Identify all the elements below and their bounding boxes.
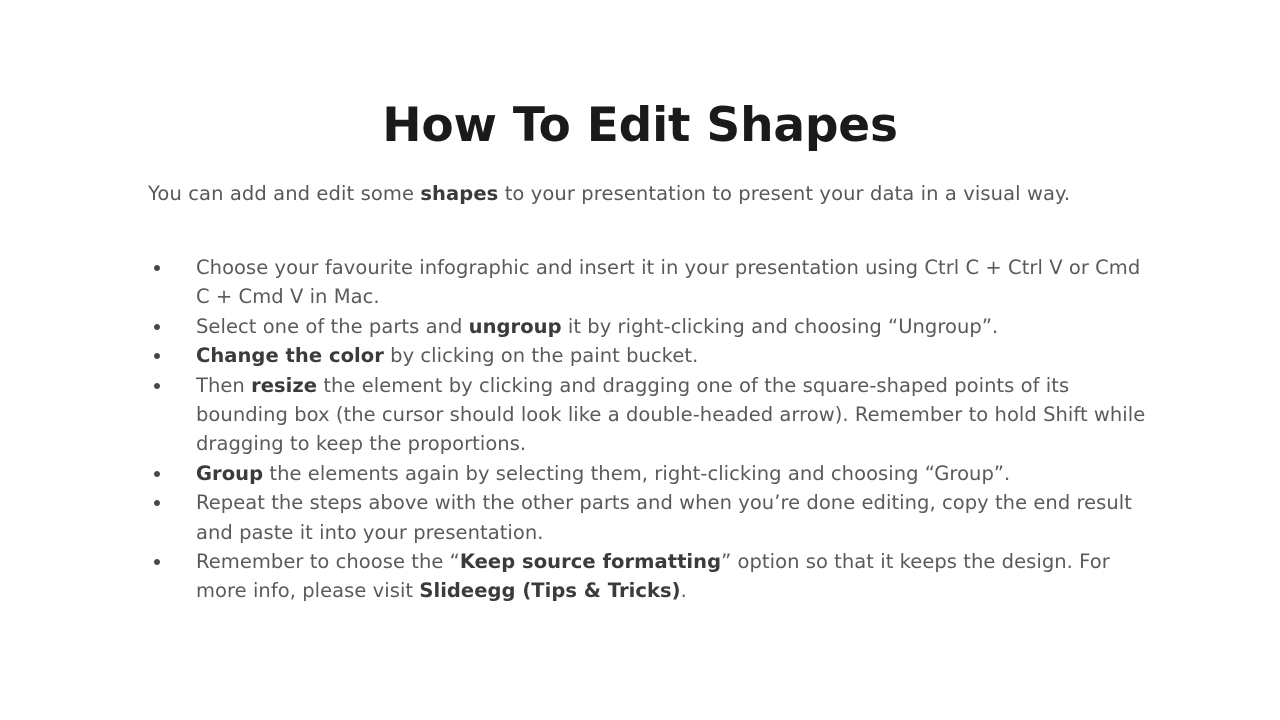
list-item-emphasis: Slideegg (Tips & Tricks) xyxy=(419,579,680,602)
list-item-emphasis: Keep source formatting xyxy=(460,550,721,573)
list-item: Then resize the element by clicking and … xyxy=(148,371,1158,459)
list-item: Choose your favourite infographic and in… xyxy=(148,253,1158,312)
list-item: Change the color by clicking on the pain… xyxy=(148,341,1158,370)
list-item-text: Select one of the parts and xyxy=(196,315,469,338)
bullet-dot-icon xyxy=(154,559,160,565)
list-item-text: Then xyxy=(196,374,251,397)
bullet-group: Group the elements again by selecting th… xyxy=(196,462,1010,485)
list-item-emphasis: resize xyxy=(251,374,317,397)
bullet-dot-icon xyxy=(154,471,160,477)
bullet-dot-icon xyxy=(154,500,160,506)
list-item: Group the elements again by selecting th… xyxy=(148,459,1158,488)
list-item-emphasis: ungroup xyxy=(469,315,562,338)
list-item-text: the elements again by selecting them, ri… xyxy=(263,462,1010,485)
subtitle-text-before: You can add and edit some xyxy=(148,182,420,205)
bullet-dot-icon xyxy=(154,383,160,389)
bullet-change-color: Change the color by clicking on the pain… xyxy=(196,344,698,367)
bullet-ungroup: Select one of the parts and ungroup it b… xyxy=(196,315,998,338)
bullet-resize: Then resize the element by clicking and … xyxy=(196,374,1145,456)
list-item-emphasis: Change the color xyxy=(196,344,384,367)
bullet-repeat: Repeat the steps above with the other pa… xyxy=(196,491,1132,543)
list-item: Repeat the steps above with the other pa… xyxy=(148,488,1158,547)
list-item-text: the element by clicking and dragging one… xyxy=(196,374,1145,456)
slide-canvas: How To Edit Shapes You can add and edit … xyxy=(0,0,1280,720)
list-item-text: it by right-clicking and choosing “Ungro… xyxy=(562,315,999,338)
list-item: Select one of the parts and ungroup it b… xyxy=(148,312,1158,341)
list-item-text: by clicking on the paint bucket. xyxy=(384,344,698,367)
subtitle-text-after: to your presentation to present your dat… xyxy=(498,182,1070,205)
instructions-list: Choose your favourite infographic and in… xyxy=(148,253,1158,606)
bullet-keep-source-formatting: Remember to choose the “Keep source form… xyxy=(196,550,1110,602)
list-item-text: . xyxy=(681,579,687,602)
subtitle-emphasis: shapes xyxy=(420,182,498,205)
bullet-dot-icon xyxy=(154,353,160,359)
list-item-text: Choose your favourite infographic and in… xyxy=(196,256,1140,308)
list-item-emphasis: Group xyxy=(196,462,263,485)
bullet-insert-infographic: Choose your favourite infographic and in… xyxy=(196,256,1140,308)
list-item: Remember to choose the “Keep source form… xyxy=(148,547,1158,606)
slide-subtitle: You can add and edit some shapes to your… xyxy=(148,180,1148,208)
list-item-text: Repeat the steps above with the other pa… xyxy=(196,491,1132,543)
bullet-dot-icon xyxy=(154,265,160,271)
list-item-text: Remember to choose the “ xyxy=(196,550,460,573)
page-title: How To Edit Shapes xyxy=(0,97,1280,156)
bullet-dot-icon xyxy=(154,324,160,330)
